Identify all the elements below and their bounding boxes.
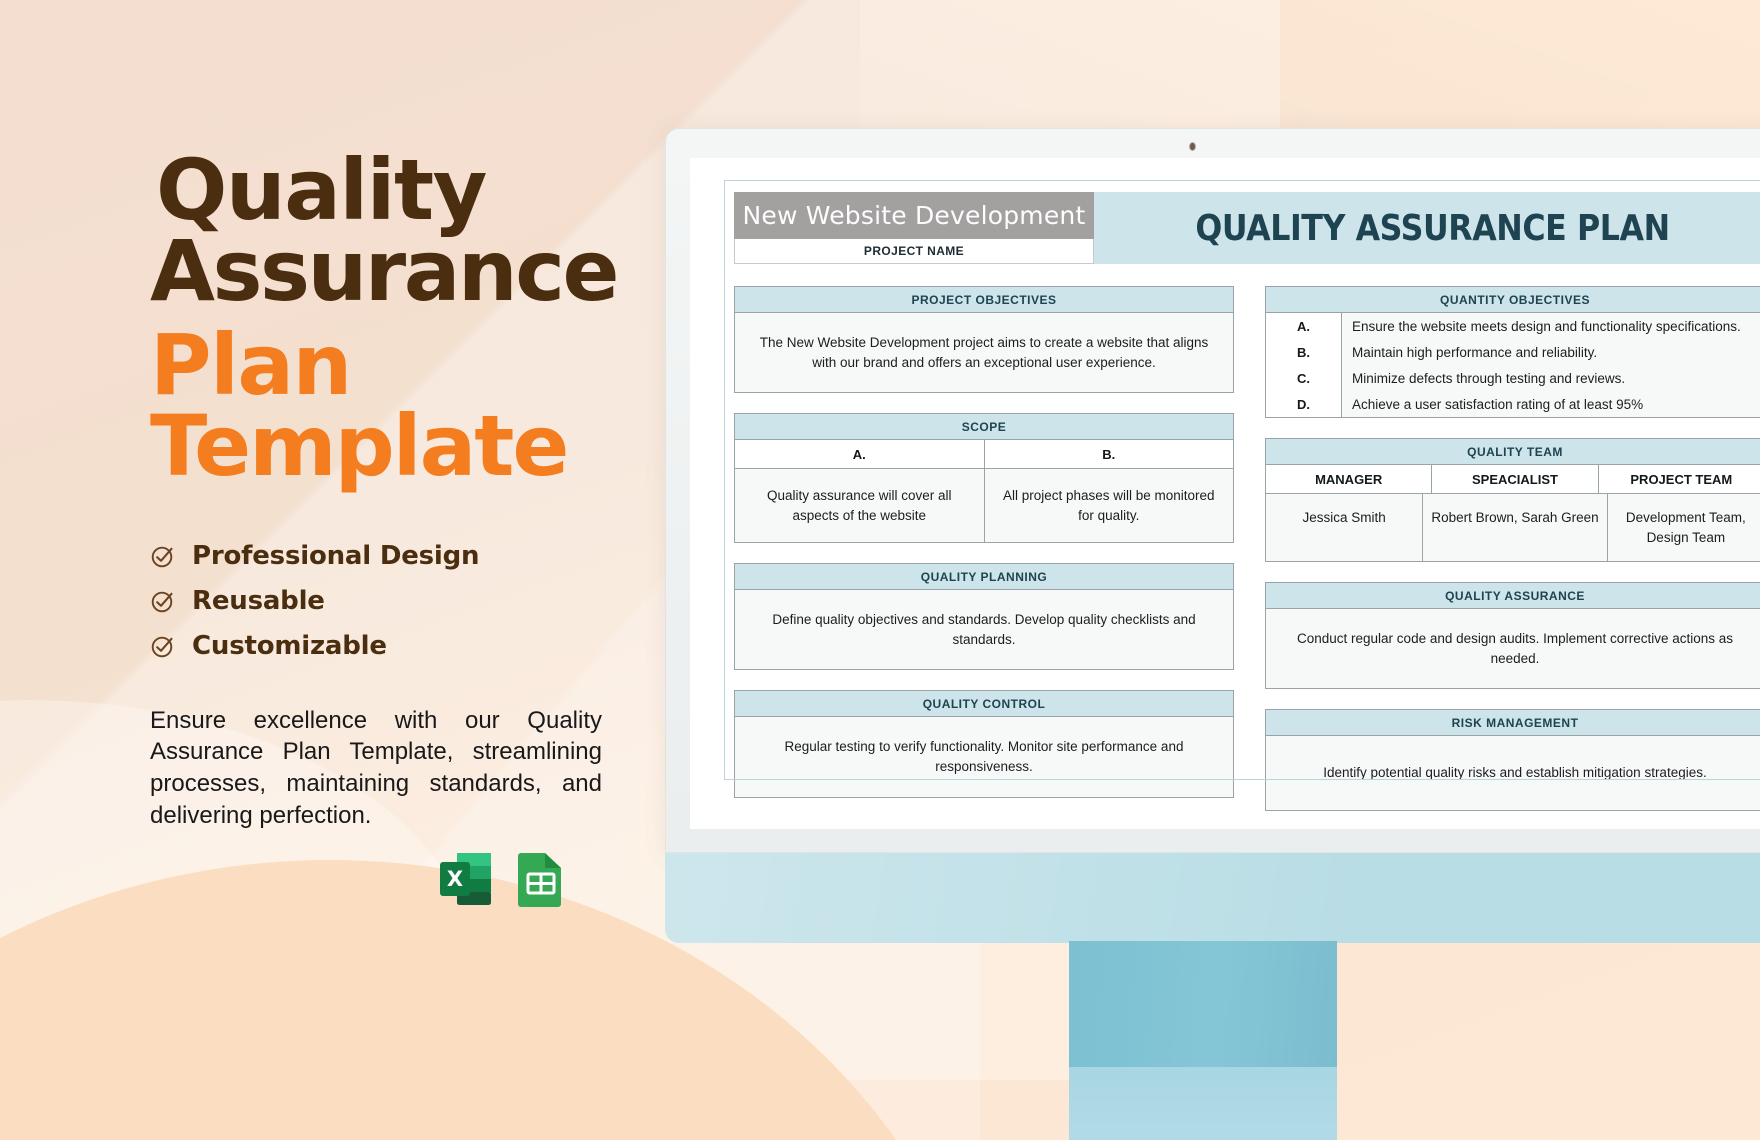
document-title-bar: QUALITY ASSURANCE PLAN <box>1094 192 1760 264</box>
column-header: PROJECT TEAM <box>1598 465 1760 493</box>
document-body: PROJECT OBJECTIVES The New Website Devel… <box>734 286 1760 829</box>
panel-project-objectives: PROJECT OBJECTIVES The New Website Devel… <box>734 286 1234 393</box>
table-row: Quality assurance will cover all aspects… <box>735 469 1233 542</box>
check-circle-icon <box>150 633 176 659</box>
column-header: B. <box>984 440 1234 468</box>
table-cell[interactable]: Quality assurance will cover all aspects… <box>735 469 984 542</box>
panel-quality-planning: QUALITY PLANNING Define quality objectiv… <box>734 563 1234 670</box>
panel-body[interactable]: Regular testing to verify functionality.… <box>735 717 1233 796</box>
objective-key: C. <box>1266 365 1342 391</box>
objective-key: A. <box>1266 313 1342 339</box>
monitor-stand-base <box>1069 1067 1337 1140</box>
page-title: Quality Assurance Plan Template <box>150 150 620 487</box>
panel-heading: QUALITY ASSURANCE <box>1266 583 1760 609</box>
table-cell[interactable]: Robert Brown, Sarah Green <box>1422 494 1606 561</box>
panel-quantity-objectives: QUANTITY OBJECTIVES A. Ensure the websit… <box>1265 286 1760 418</box>
table-cell[interactable]: Jessica Smith <box>1266 494 1422 561</box>
list-item: B. Maintain high performance and reliabi… <box>1266 339 1760 365</box>
document-header: New Website Development PROJECT NAME QUA… <box>734 192 1760 264</box>
objective-key: D. <box>1266 391 1342 417</box>
table-cell[interactable]: All project phases will be monitored for… <box>984 469 1234 542</box>
list-item: Reusable <box>150 586 620 616</box>
feature-label: Professional Design <box>192 541 479 571</box>
panel-heading: RISK MANAGEMENT <box>1266 710 1760 736</box>
camera-icon <box>1189 142 1196 151</box>
column-header: SPEACIALIST <box>1431 465 1597 493</box>
feature-label: Customizable <box>192 631 387 661</box>
panel-heading: PROJECT OBJECTIVES <box>735 287 1233 313</box>
check-circle-icon <box>150 543 176 569</box>
monitor-chin-shine <box>665 853 1760 943</box>
table-cell[interactable]: Development Team, Design Team <box>1607 494 1760 561</box>
title-line-plan: Plan <box>150 325 620 406</box>
objective-text[interactable]: Achieve a user satisfaction rating of at… <box>1342 391 1643 417</box>
panel-heading: QUALITY CONTROL <box>735 691 1233 717</box>
project-name-value[interactable]: New Website Development <box>734 192 1094 239</box>
file-format-icons: X <box>438 850 620 908</box>
objective-text[interactable]: Ensure the website meets design and func… <box>1342 313 1741 339</box>
monitor-bezel: New Website Development PROJECT NAME QUA… <box>665 128 1760 853</box>
objective-text[interactable]: Minimize defects through testing and rev… <box>1342 365 1625 391</box>
table-header-row: A. B. <box>735 440 1233 469</box>
list-item: D. Achieve a user satisfaction rating of… <box>1266 391 1760 417</box>
list-item: Professional Design <box>150 541 620 571</box>
panel-quality-team: QUALITY TEAM MANAGER SPEACIALIST PROJECT… <box>1265 438 1760 562</box>
column-header: A. <box>735 440 984 468</box>
promo-description: Ensure excellence with our Quality Assur… <box>150 705 602 833</box>
list-item: C. Minimize defects through testing and … <box>1266 365 1760 391</box>
panel-body[interactable]: Identify potential quality risks and est… <box>1266 736 1760 810</box>
excel-icon[interactable]: X <box>438 850 494 908</box>
svg-text:X: X <box>447 867 463 891</box>
project-name-label: PROJECT NAME <box>734 239 1094 264</box>
panel-quality-control: QUALITY CONTROL Regular testing to verif… <box>734 690 1234 797</box>
monitor-screen: New Website Development PROJECT NAME QUA… <box>690 158 1760 829</box>
check-circle-icon <box>150 588 176 614</box>
monitor-stand-neck <box>1069 941 1337 1069</box>
monitor-mockup: New Website Development PROJECT NAME QUA… <box>665 128 1760 853</box>
objective-text[interactable]: Maintain high performance and reliabilit… <box>1342 339 1597 365</box>
project-name-block: New Website Development PROJECT NAME <box>734 192 1094 264</box>
list-item: Customizable <box>150 631 620 661</box>
title-line-template: Template <box>150 406 620 487</box>
panel-body[interactable]: Define quality objectives and standards.… <box>735 590 1233 669</box>
document-title: QUALITY ASSURANCE PLAN <box>1195 208 1669 249</box>
panel-heading: SCOPE <box>735 414 1233 440</box>
panel-heading: QUANTITY OBJECTIVES <box>1266 287 1760 313</box>
objective-key: B. <box>1266 339 1342 365</box>
feature-label: Reusable <box>192 586 325 616</box>
google-sheets-icon[interactable] <box>516 850 566 908</box>
list-item: A. Ensure the website meets design and f… <box>1266 313 1760 339</box>
panel-risk-management: RISK MANAGEMENT Identify potential quali… <box>1265 709 1760 811</box>
panel-heading: QUALITY PLANNING <box>735 564 1233 590</box>
document-right-column: QUANTITY OBJECTIVES A. Ensure the websit… <box>1265 286 1760 829</box>
table-header-row: MANAGER SPEACIALIST PROJECT TEAM <box>1266 465 1760 494</box>
column-header: MANAGER <box>1266 465 1431 493</box>
panel-quality-assurance: QUALITY ASSURANCE Conduct regular code a… <box>1265 582 1760 689</box>
promo-panel: Quality Assurance Plan Template Professi… <box>150 150 620 908</box>
document-left-column: PROJECT OBJECTIVES The New Website Devel… <box>734 286 1234 829</box>
panel-scope: SCOPE A. B. Quality assurance will cover… <box>734 413 1234 543</box>
panel-body[interactable]: Conduct regular code and design audits. … <box>1266 609 1760 688</box>
title-line-assurance: Assurance <box>150 231 620 312</box>
quality-assurance-plan-document: New Website Development PROJECT NAME QUA… <box>710 172 1760 829</box>
panel-body[interactable]: The New Website Development project aims… <box>735 313 1233 392</box>
panel-heading: QUALITY TEAM <box>1266 439 1760 465</box>
table-row: Jessica Smith Robert Brown, Sarah Green … <box>1266 494 1760 561</box>
title-line-quality: Quality <box>156 150 620 231</box>
feature-list: Professional Design Reusable Customizabl… <box>150 541 620 661</box>
